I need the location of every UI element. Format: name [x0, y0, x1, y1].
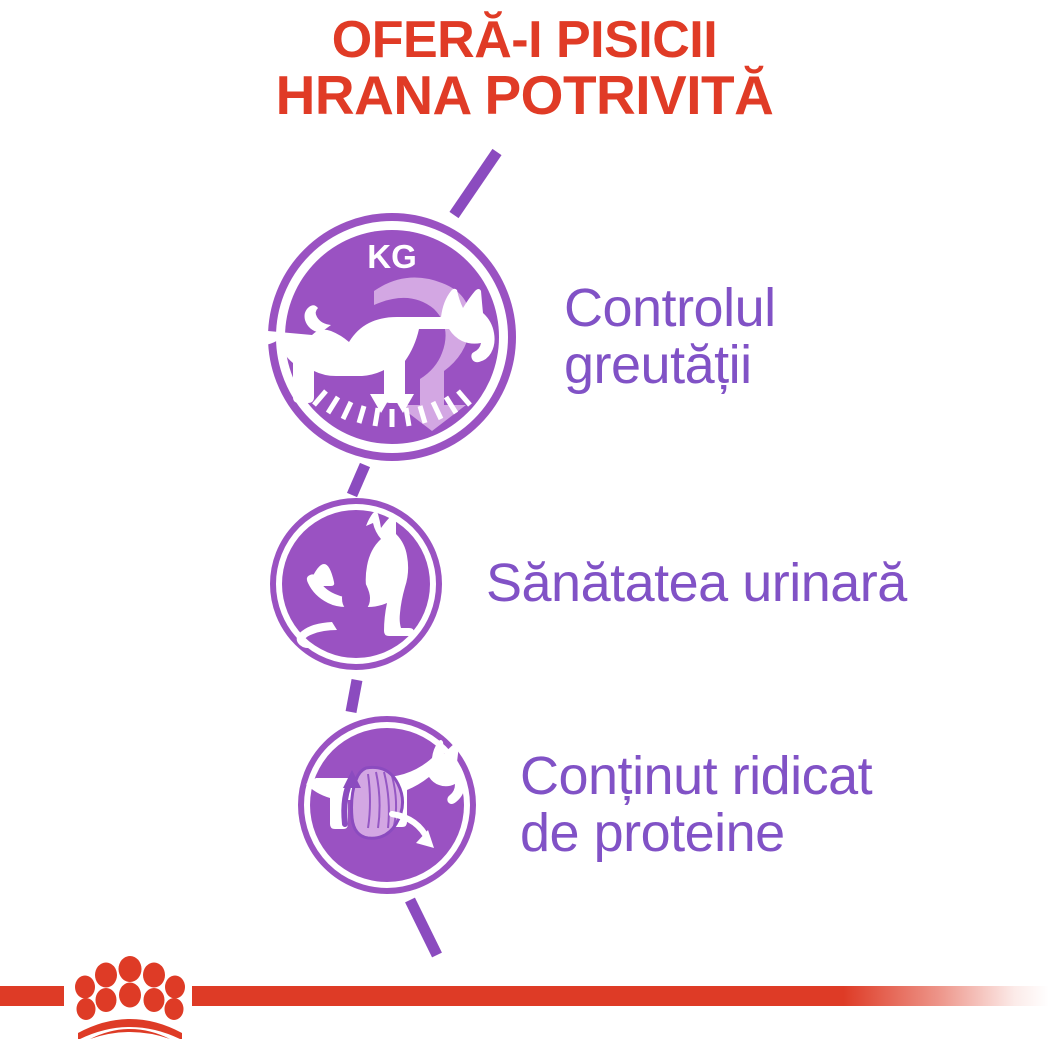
footer-bar-left — [0, 986, 64, 1006]
title-line-2: HRANA POTRIVITĂ — [0, 67, 1049, 123]
royal-canin-crown-logo — [68, 953, 192, 1039]
title-line-1: OFERĂ-I PISICII — [0, 14, 1049, 67]
benefit-label-line-1: Conținut ridicat — [520, 748, 872, 805]
benefit-row-weight-control: KG — [268, 213, 776, 461]
footer-bar-right — [192, 986, 1049, 1006]
infographic-canvas: OFERĂ-I PISICII HRANA POTRIVITĂ — [0, 0, 1049, 1049]
brand-footer — [0, 929, 1049, 1049]
benefit-label-high-protein: Conținut ridicat de proteine — [520, 748, 872, 862]
benefit-label-weight-control: Controlul greutății — [564, 280, 776, 394]
benefit-label-line-1: Sănătatea urinară — [486, 555, 907, 612]
benefit-row-high-protein: Conținut ridicat de proteine — [298, 716, 872, 894]
benefit-label-line-2: greutății — [564, 337, 776, 394]
cat-muscle-protein-icon — [298, 716, 476, 894]
benefit-label-line-2: de proteine — [520, 805, 872, 862]
icon-kg-label: KG — [367, 238, 417, 275]
benefit-label-line-1: Controlul — [564, 280, 776, 337]
benefit-row-urinary-health: Sănătatea urinară — [270, 498, 907, 670]
cat-on-scale-icon: KG — [268, 213, 516, 461]
benefit-label-urinary-health: Sănătatea urinară — [486, 555, 907, 612]
cat-urinary-droplet-icon — [270, 498, 442, 670]
page-title: OFERĂ-I PISICII HRANA POTRIVITĂ — [0, 14, 1049, 123]
